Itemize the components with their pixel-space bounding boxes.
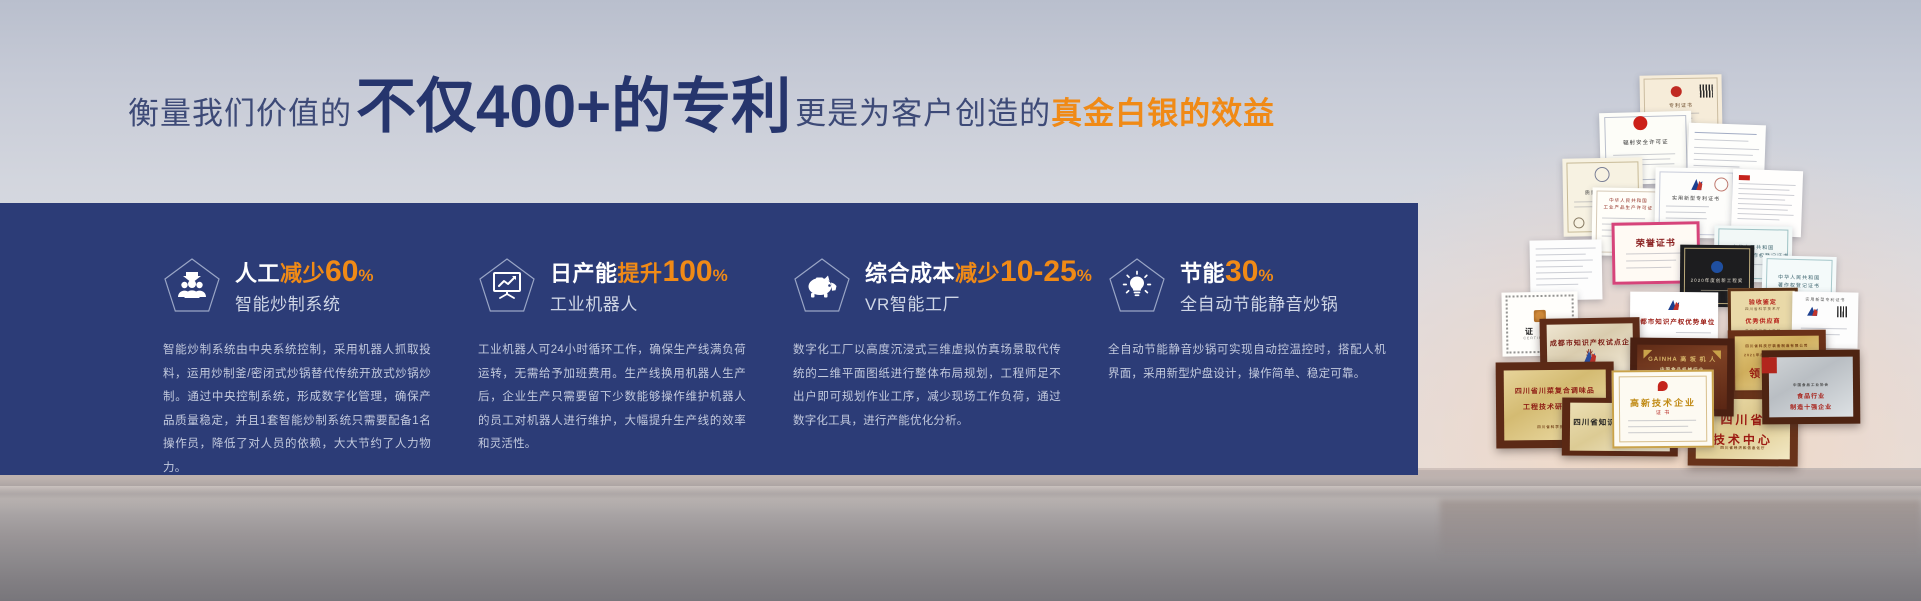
- certificate-award-pile: 专利证书 辐射安全许可证 质量管理体系: [1440, 40, 1921, 510]
- headline-lead: 衡量我们价值的: [128, 98, 352, 129]
- stat-value-line: 日产能提升100%: [550, 257, 728, 287]
- stat-description: 全自动节能静音炒锅可实现自动控温控时，搭配人机界面，采用新型炉盘设计，操作简单、…: [1108, 339, 1386, 386]
- stat-description: 智能炒制系统由中央系统控制，采用机器人抓取投料，运用炒制釜/密闭式炒锅替代传统开…: [163, 339, 431, 480]
- banner-stage: 衡量我们价值的 不仅400+的专利 更是为客户创造的 真金白银的效益: [0, 0, 1921, 601]
- stat-subtitle: 全自动节能静音炒锅: [1180, 296, 1338, 313]
- stat-number: 30: [1225, 255, 1258, 288]
- plaque-top-ten-manufacture: 中国食品工业协会 食品行业 制造十强企业: [1762, 350, 1861, 425]
- cert-hightech: 高新技术企业 证 书: [1612, 370, 1715, 449]
- stat-verb: 减少: [280, 261, 325, 286]
- stat-unit: %: [358, 266, 373, 285]
- people-group-icon: [163, 257, 221, 313]
- stat-header: 人工减少60% 智能炒制系统: [163, 253, 374, 317]
- stat-number: 60: [325, 255, 358, 288]
- stats-panel: 人工减少60% 智能炒制系统 智能炒制系统由中央系统控制，采用机器人抓取投料，运…: [0, 203, 1418, 475]
- chart-board-icon: [478, 257, 536, 313]
- stat-label: 人工: [235, 261, 280, 286]
- stat-value-line: 节能30%: [1180, 257, 1338, 287]
- stat-verb: 提升: [618, 261, 663, 286]
- stat-unit: %: [713, 266, 728, 285]
- stat-value-line: 人工减少60%: [235, 257, 374, 287]
- stat-value-line: 综合成本减少10-25%: [865, 257, 1092, 287]
- lightbulb-icon: [1108, 257, 1166, 313]
- stat-description: 工业机器人可24小时循环工作，确保生产线满负荷运转，无需给予加班费用。生产线换用…: [478, 339, 746, 457]
- stat-unit: %: [1258, 266, 1273, 285]
- stat-label: 综合成本: [865, 261, 955, 286]
- piggy-bank-icon: [793, 257, 851, 313]
- stat-number: 100: [663, 255, 713, 288]
- certificate-pile-reflection: [1440, 500, 1921, 560]
- stat-label: 日产能: [550, 261, 618, 286]
- stat-verb: 减少: [955, 261, 1000, 286]
- banner-headline: 衡量我们价值的 不仅400+的专利 更是为客户创造的 真金白银的效益: [128, 74, 1275, 140]
- headline-middle: 更是为客户创造的: [795, 98, 1051, 129]
- stat-description: 数字化工厂以高度沉浸式三维虚拟仿真场景取代传统的二维平面图纸进行整体布局规划，工…: [793, 339, 1061, 433]
- stat-subtitle: 工业机器人: [550, 296, 728, 313]
- stat-header: 节能30% 全自动节能静音炒锅: [1108, 253, 1338, 317]
- stat-header: 日产能提升100% 工业机器人: [478, 253, 728, 317]
- stat-subtitle: 智能炒制系统: [235, 296, 374, 313]
- stat-label: 节能: [1180, 261, 1225, 286]
- headline-emphasis: 不仅400+的专利: [356, 77, 791, 137]
- stat-number: 10-25: [1000, 255, 1077, 288]
- stat-header: 综合成本减少10-25% VR智能工厂: [793, 253, 1092, 317]
- stat-subtitle: VR智能工厂: [865, 296, 1092, 313]
- headline-highlight: 真金白银的效益: [1051, 98, 1275, 129]
- stat-unit: %: [1077, 266, 1092, 285]
